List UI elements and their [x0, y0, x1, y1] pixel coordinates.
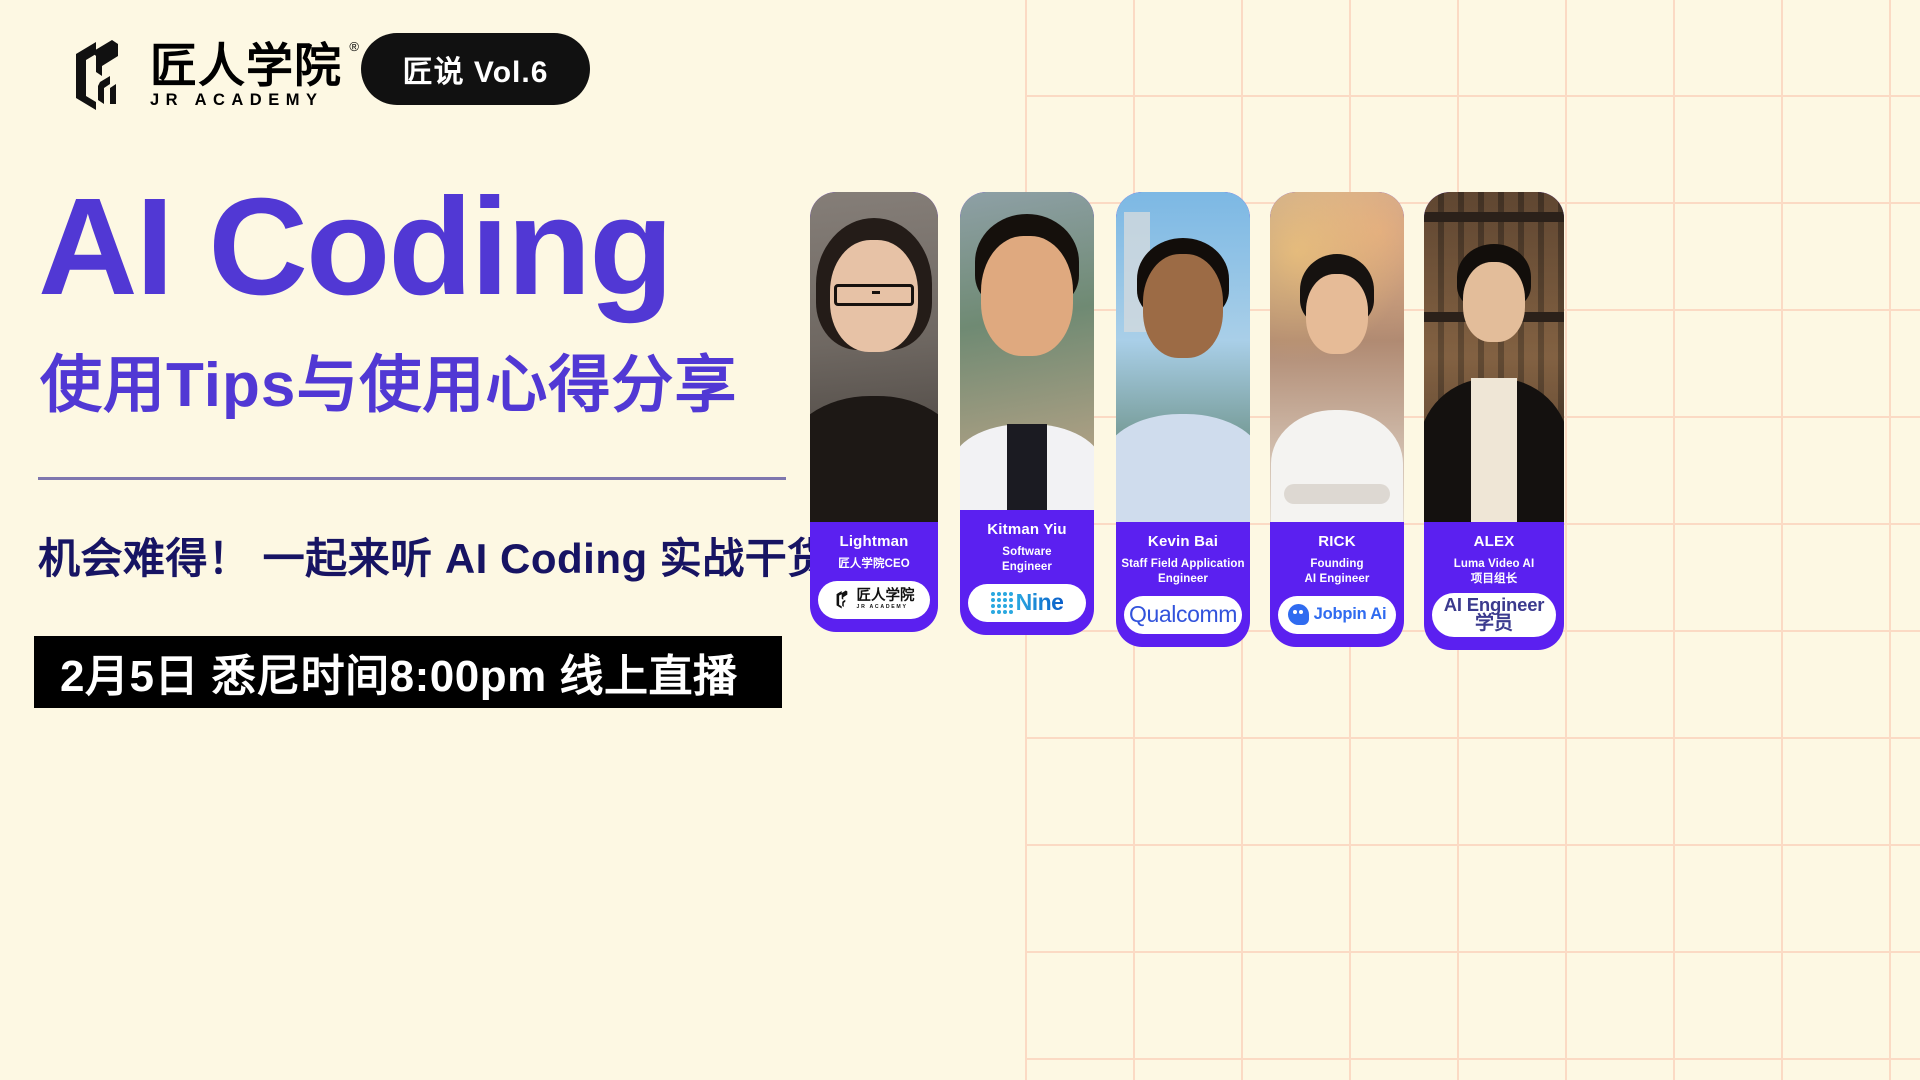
speaker-card[interactable]: RICK Founding AI Engineer Jobpin Ai: [1270, 192, 1404, 647]
speaker-photo: [1116, 192, 1250, 522]
speaker-role-line-1: Founding: [1310, 558, 1363, 570]
badge-english-name: JR ACADEMY: [857, 605, 915, 610]
date-bar: 2月5日 悉尼时间8:00pm 线上直播: [34, 636, 782, 708]
volume-badge: 匠说 Vol.6: [361, 33, 590, 105]
speaker-role: Staff Field Application Engineer: [1117, 557, 1248, 586]
speaker-role: Software Engineer: [998, 545, 1056, 574]
speaker-role-line-2: Engineer: [1002, 561, 1052, 573]
company-badge: 匠人学院 JR ACADEMY: [818, 581, 930, 619]
speaker-card-list: Lightman 匠人学院CEO 匠人学院 JR ACADEMY: [810, 192, 1920, 672]
qualcomm-logo-text: Qualcomm: [1129, 601, 1237, 628]
tagline: 机会难得！ 一起来听 AI Coding 实战干货: [38, 525, 830, 586]
speaker-name: RICK: [1318, 533, 1355, 550]
speaker-role-line-2: 项目组长: [1471, 573, 1517, 585]
speaker-role-line-2: Engineer: [1158, 573, 1208, 585]
speaker-role-line-1: Luma Video AI: [1454, 558, 1535, 570]
jobpin-logo-text: Jobpin Ai: [1314, 605, 1387, 624]
badge-chinese-name: 匠人学院: [857, 589, 915, 604]
divider: [38, 477, 786, 480]
company-badge: Qualcomm: [1124, 596, 1242, 634]
jr-academy-logo: 匠人学院® JR ACADEMY: [66, 38, 342, 112]
speaker-role: Luma Video AI 项目组长: [1450, 557, 1539, 586]
ai-engineer-badge: AI Engineer 学员: [1444, 596, 1545, 634]
badge-line-2: 学员: [1475, 614, 1513, 633]
speaker-photo: [960, 192, 1094, 510]
nine-logo-icon: Nine: [991, 589, 1064, 616]
speaker-name: Kevin Bai: [1148, 533, 1218, 550]
speaker-role: Founding AI Engineer: [1300, 557, 1373, 586]
speaker-name: ALEX: [1474, 533, 1515, 550]
volume-badge-label: 匠说 Vol.6: [403, 47, 549, 91]
jobpin-logo-icon: Jobpin Ai: [1288, 604, 1387, 625]
speaker-role-line-2: AI Engineer: [1304, 573, 1369, 585]
speaker-role-line-1: Software: [1002, 546, 1051, 558]
date-bar-label: 2月5日 悉尼时间8:00pm 线上直播: [60, 640, 737, 704]
jr-academy-logo-icon: [66, 38, 140, 112]
registered-mark: ®: [349, 41, 360, 53]
page-title: AI Coding: [38, 178, 672, 316]
logo-english-name: JR ACADEMY: [150, 91, 323, 110]
speaker-card[interactable]: Kitman Yiu Software Engineer Nine: [960, 192, 1094, 635]
speaker-card[interactable]: Kevin Bai Staff Field Application Engine…: [1116, 192, 1250, 647]
company-badge: AI Engineer 学员: [1432, 593, 1556, 637]
speaker-role-line-1: Staff Field Application: [1121, 558, 1244, 570]
speaker-name: Kitman Yiu: [987, 521, 1067, 538]
speaker-card[interactable]: ALEX Luma Video AI 项目组长 AI Engineer 学员: [1424, 192, 1564, 650]
nine-logo-text: Nine: [1016, 589, 1064, 616]
speaker-photo: [1424, 192, 1564, 522]
page-subtitle: 使用Tips与使用心得分享: [40, 355, 737, 417]
logo-chinese-name: 匠人学院®: [150, 43, 342, 88]
company-badge: Nine: [968, 584, 1086, 622]
speaker-photo: [1270, 192, 1404, 522]
speaker-name: Lightman: [839, 533, 908, 550]
jr-academy-badge-icon: 匠人学院 JR ACADEMY: [834, 589, 915, 610]
speaker-card[interactable]: Lightman 匠人学院CEO 匠人学院 JR ACADEMY: [810, 192, 938, 632]
speaker-photo: [810, 192, 938, 522]
company-badge: Jobpin Ai: [1278, 596, 1396, 634]
poster-header: 匠人学院® JR ACADEMY 匠说 Vol.6: [0, 0, 1000, 150]
badge-line-1: AI Engineer: [1444, 596, 1545, 615]
jr-academy-logo-text: 匠人学院® JR ACADEMY: [150, 43, 342, 112]
speaker-role: 匠人学院CEO: [834, 557, 914, 572]
poster-root: 匠人学院® JR ACADEMY 匠说 Vol.6 AI Coding 使用Ti…: [0, 0, 1920, 1080]
